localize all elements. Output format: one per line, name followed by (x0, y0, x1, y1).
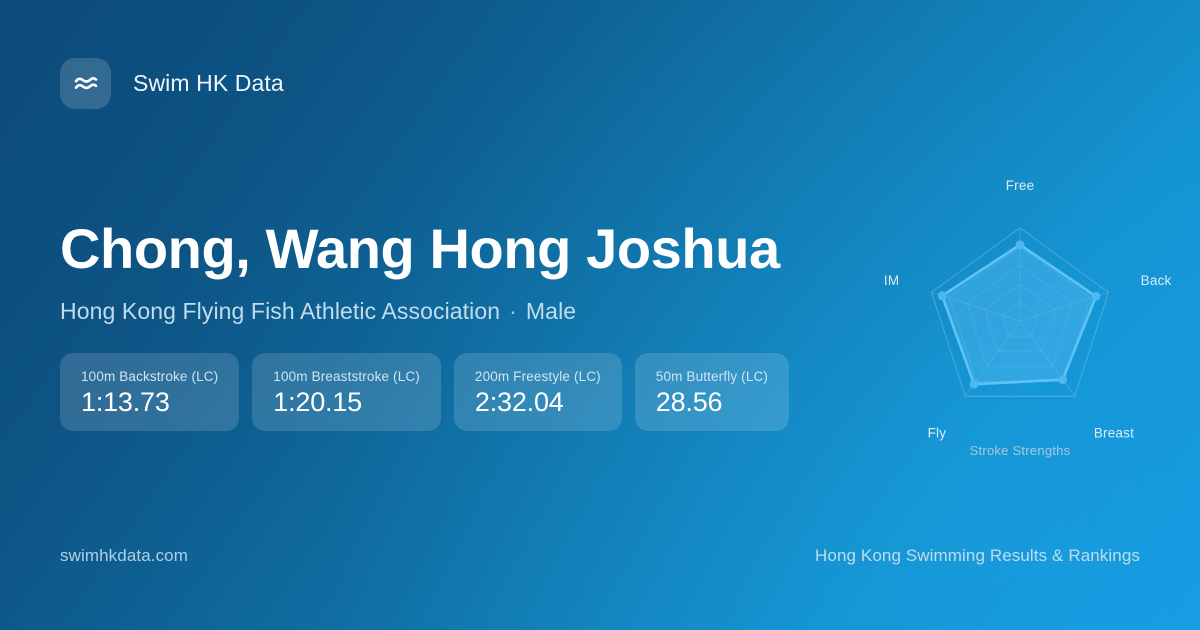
brand-lockup: Swim HK Data (60, 58, 284, 109)
event-stat-label: 100m Backstroke (LC) (81, 369, 218, 384)
event-stat-card[interactable]: 100m Backstroke (LC)1:13.73 (60, 353, 239, 431)
footer: swimhkdata.com Hong Kong Swimming Result… (60, 546, 1140, 566)
radar-data-point (1092, 292, 1101, 301)
event-stat-value: 28.56 (656, 389, 768, 416)
athlete-gender: Male (526, 298, 576, 324)
athlete-meta: Hong Kong Flying Fish Athletic Associati… (60, 298, 860, 325)
event-stat-label: 50m Butterfly (LC) (656, 369, 768, 384)
hero-section: Chong, Wang Hong Joshua Hong Kong Flying… (60, 219, 860, 325)
radar-data-point (970, 380, 979, 389)
page-title: Chong, Wang Hong Joshua (60, 219, 860, 279)
site-url: swimhkdata.com (60, 546, 188, 566)
footer-tagline: Hong Kong Swimming Results & Rankings (815, 546, 1140, 566)
stroke-strengths-radar-chart: FreeBackBreastFlyIM Stroke Strengths (869, 160, 1171, 480)
athlete-club: Hong Kong Flying Fish Athletic Associati… (60, 298, 500, 324)
event-stat-value: 2:32.04 (475, 389, 601, 416)
event-stat-card[interactable]: 100m Breaststroke (LC)1:20.15 (252, 353, 441, 431)
event-stat-card[interactable]: 200m Freestyle (LC)2:32.04 (454, 353, 622, 431)
meta-separator: · (500, 298, 526, 324)
radar-axis-label: Free (1006, 178, 1035, 193)
radar-axis-label: Fly (928, 425, 947, 440)
wave-icon (60, 58, 111, 109)
event-stat-label: 200m Freestyle (LC) (475, 369, 601, 384)
event-stat-value: 1:13.73 (81, 389, 218, 416)
brand-name: Swim HK Data (133, 70, 284, 97)
event-stat-value: 1:20.15 (273, 389, 420, 416)
chart-caption: Stroke Strengths (869, 443, 1171, 458)
radar-axis-label: Back (1141, 273, 1172, 288)
radar-data-point (938, 291, 947, 300)
event-stat-card[interactable]: 50m Butterfly (LC)28.56 (635, 353, 789, 431)
event-stat-cards: 100m Backstroke (LC)1:13.73100m Breastst… (60, 353, 789, 431)
radar-axis-label: IM (884, 273, 899, 288)
radar-data-polygon (942, 245, 1096, 384)
radar-axis-label: Breast (1094, 425, 1134, 440)
event-stat-label: 100m Breaststroke (LC) (273, 369, 420, 384)
radar-data-point (1016, 240, 1025, 249)
radar-data-point (1058, 375, 1067, 384)
